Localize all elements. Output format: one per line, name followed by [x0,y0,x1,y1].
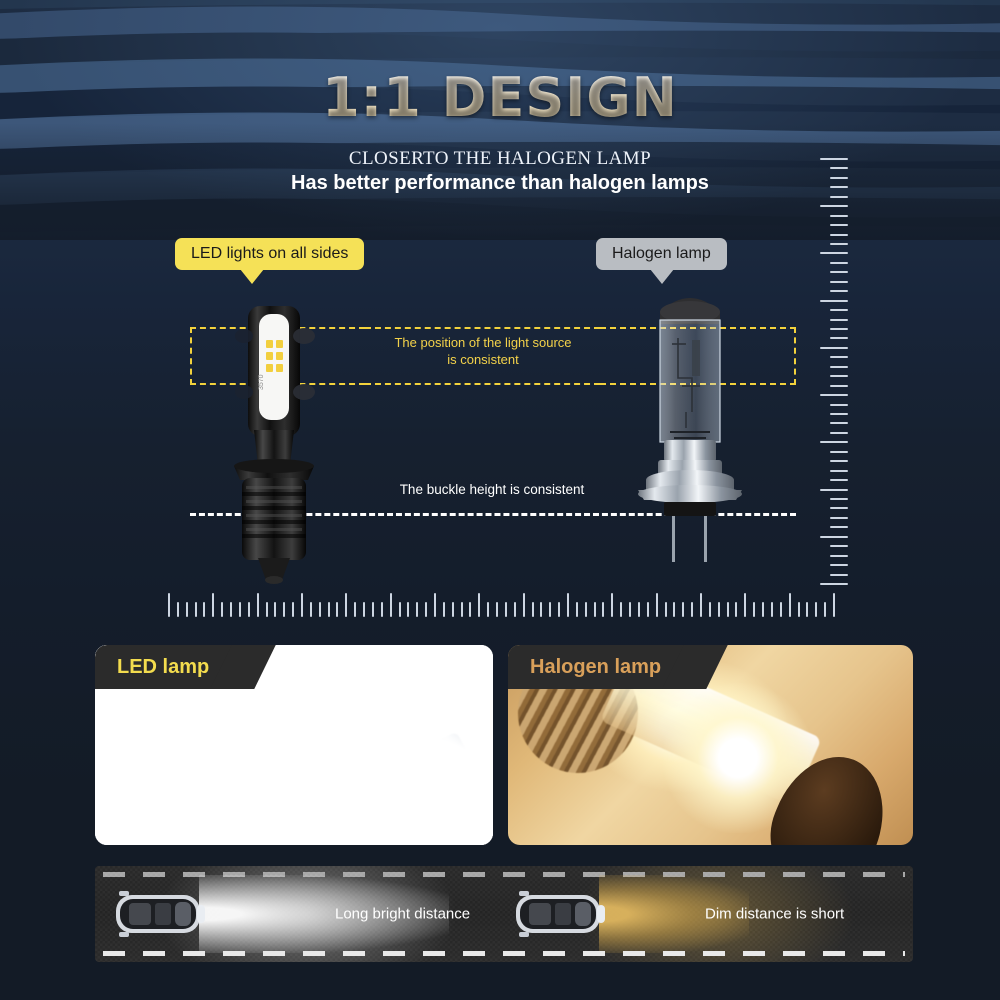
ruler-tick [390,593,392,617]
ruler-tick [830,309,848,311]
ruler-tick [239,602,241,617]
ruler-tick [830,545,848,547]
callout-led-label: LED lights on all sides [191,245,348,262]
road-label-led: Long bright distance [335,906,470,923]
svg-text:3570: 3570 [258,374,265,390]
ruler-tick [806,602,808,617]
ruler-tick [177,602,179,617]
ruler-tick [540,602,542,617]
bubble-tail-icon [240,269,264,284]
ruler-tick [301,593,303,617]
ruler-tick [585,602,587,617]
road-comparison-strip: Long bright distance Dim distance is sho… [95,866,913,962]
car-halogen-icon [513,887,609,941]
ruler-tick [830,281,848,283]
ruler-tick [372,602,374,617]
ruler-tick [830,574,848,576]
ruler-tick [820,300,848,302]
ruler-tick [820,536,848,538]
ruler-tick [820,205,848,207]
ruler-tick [820,583,848,585]
ruler-tick [230,602,232,617]
ruler-tick [718,602,720,617]
buckle-note: The buckle height is consistent [352,482,632,497]
horizontal-ruler [168,591,833,617]
light-source-note: The position of the light source is cons… [388,334,578,368]
ruler-tick [248,602,250,617]
led-panel-tag: LED lamp [95,645,243,689]
ruler-tick [727,602,729,617]
ruler-tick [381,602,383,617]
ruler-tick [523,593,525,617]
ruler-tick [221,602,223,617]
ruler-tick [700,593,702,617]
ruler-tick [830,555,848,557]
halogen-bulb [630,282,750,582]
ruler-tick [798,602,800,617]
ruler-tick [576,602,578,617]
ruler-tick [203,602,205,617]
ruler-tick [443,602,445,617]
ruler-tick [830,224,848,226]
ruler-tick [558,602,560,617]
infographic-canvas: 1:1 DESIGN CLOSERTO THE HALOGEN LAMP Has… [0,0,1000,1000]
ruler-tick [830,526,848,528]
ruler-tick [478,593,480,617]
ruler-tick [830,319,848,321]
ruler-tick [789,593,791,617]
subtitle-secondary: Has better performance than halogen lamp… [0,172,1000,195]
ruler-tick [830,186,848,188]
halogen-lamp-panel: Halogen lamp [508,645,913,845]
ruler-tick [815,602,817,617]
ruler-tick [354,602,356,617]
ruler-tick [168,593,170,617]
led-panel-tag-label: LED lamp [117,656,209,679]
ruler-tick [830,413,848,415]
ruler-tick [830,337,848,339]
ruler-tick [505,602,507,617]
led-flare [270,701,493,845]
ruler-tick [602,602,604,617]
ruler-tick [656,593,658,617]
ruler-tick [830,290,848,292]
ruler-tick [691,602,693,617]
ruler-tick [830,366,848,368]
ruler-tick [830,404,848,406]
subtitle-primary: CLOSERTO THE HALOGEN LAMP [0,148,1000,170]
ruler-tick [830,375,848,377]
led-bulb: 3570 [228,300,338,590]
ruler-tick [532,602,534,617]
ruler-tick [425,602,427,617]
ruler-tick [487,602,489,617]
ruler-tick [594,602,596,617]
ruler-tick [833,593,835,617]
ruler-tick [820,489,848,491]
ruler-tick [665,602,667,617]
road-label-halogen: Dim distance is short [705,906,844,923]
ruler-tick [186,602,188,617]
ruler-tick [780,602,782,617]
ruler-tick [461,602,463,617]
ruler-tick [830,167,848,169]
ruler-tick [629,602,631,617]
ruler-tick [830,451,848,453]
ruler-tick [771,602,773,617]
ruler-tick [830,507,848,509]
ruler-tick [709,602,711,617]
ruler-tick [682,602,684,617]
ruler-tick [830,460,848,462]
ruler-tick [830,479,848,481]
ruler-tick [195,602,197,617]
ruler-tick [830,517,848,519]
ruler-tick [753,602,755,617]
ruler-tick [824,602,826,617]
halogen-panel-tag-label: Halogen lamp [530,656,661,679]
car-led-icon [113,887,209,941]
ruler-tick [830,564,848,566]
ruler-tick [611,593,613,617]
ruler-tick [567,593,569,617]
ruler-tick [830,432,848,434]
ruler-tick [830,262,848,264]
ruler-tick [363,602,365,617]
ruler-tick [830,356,848,358]
ruler-tick [328,602,330,617]
ruler-tick [514,602,516,617]
ruler-tick [266,602,268,617]
ruler-tick [469,602,471,617]
ruler-tick [830,243,848,245]
ruler-tick [292,602,294,617]
ruler-tick [319,602,321,617]
ruler-tick [762,602,764,617]
ruler-tick [399,602,401,617]
ruler-tick [735,602,737,617]
ruler-tick [830,196,848,198]
ruler-tick [830,498,848,500]
ruler-tick [496,602,498,617]
vertical-ruler [814,158,848,583]
ruler-tick [830,177,848,179]
ruler-tick [820,394,848,396]
ruler-tick [549,602,551,617]
ruler-tick [830,328,848,330]
ruler-tick [820,158,848,160]
led-lamp-panel: LED lamp [95,645,493,845]
callout-halogen-lamp: Halogen lamp [596,238,727,270]
ruler-tick [407,602,409,617]
ruler-tick [830,271,848,273]
ruler-tick [820,441,848,443]
ruler-tick [620,602,622,617]
ruler-tick [336,602,338,617]
page-title: 1:1 DESIGN [0,66,1000,129]
ruler-tick [744,593,746,617]
ruler-tick [830,234,848,236]
ruler-tick [452,602,454,617]
callout-halogen-label: Halogen lamp [612,245,711,262]
ruler-tick [257,593,259,617]
callout-led-lights: LED lights on all sides [175,238,364,270]
halogen-panel-tag: Halogen lamp [508,645,695,689]
ruler-tick [310,602,312,617]
ruler-tick [830,470,848,472]
ruler-tick [638,602,640,617]
ruler-tick [212,593,214,617]
ruler-tick [820,347,848,349]
ruler-tick [283,602,285,617]
ruler-tick [820,252,848,254]
ruler-tick [647,602,649,617]
ruler-tick [830,385,848,387]
ruler-tick [673,602,675,617]
ruler-tick [274,602,276,617]
ruler-tick [345,593,347,617]
ruler-tick [830,422,848,424]
ruler-tick [830,215,848,217]
ruler-tick [416,602,418,617]
ruler-tick [434,593,436,617]
